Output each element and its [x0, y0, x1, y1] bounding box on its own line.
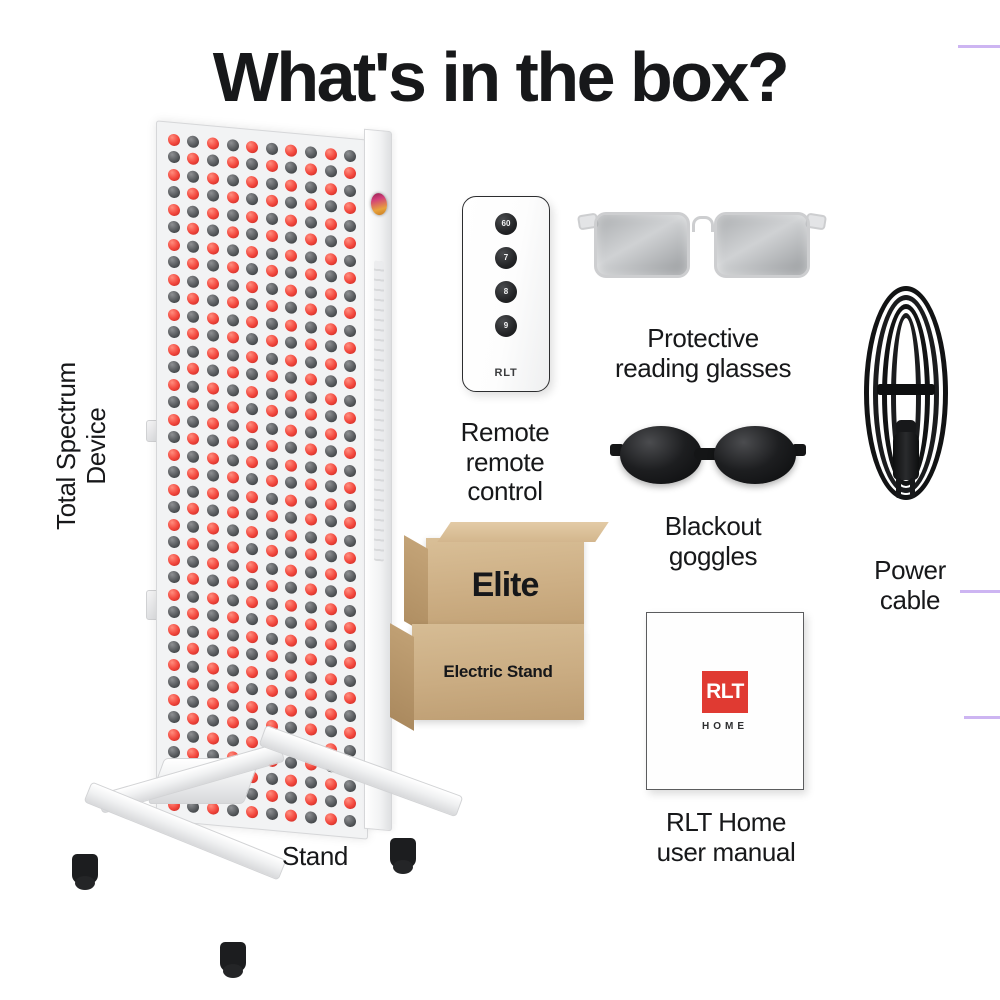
led-panel [156, 120, 368, 839]
led-dot [184, 639, 204, 658]
led-dot [184, 674, 204, 693]
led-dot [184, 622, 204, 641]
led-dot [262, 612, 282, 631]
led-dot [203, 624, 223, 643]
led-dot [301, 563, 321, 582]
led-dot [184, 272, 204, 291]
led-dot [282, 491, 302, 510]
led-dot [340, 689, 360, 708]
led-dot [262, 787, 282, 806]
led-dot [321, 337, 341, 356]
led-dot [164, 375, 184, 394]
led-dot [242, 470, 262, 489]
led-dot [321, 599, 341, 618]
led-dot [282, 176, 302, 195]
led-dot [164, 253, 184, 272]
led-dot [242, 347, 262, 366]
led-dot [242, 540, 262, 559]
led-dot [203, 414, 223, 433]
led-dot [262, 577, 282, 596]
led-dot [340, 531, 360, 550]
led-dot [223, 240, 243, 259]
led-dot [203, 431, 223, 450]
led-dot [301, 160, 321, 179]
led-dot [203, 361, 223, 380]
led-dot [203, 571, 223, 590]
led-dot [282, 228, 302, 247]
led-dot [242, 382, 262, 401]
led-dot [282, 473, 302, 492]
led-dot [184, 254, 204, 273]
led-dot [223, 503, 243, 522]
led-dot [242, 610, 262, 629]
led-dot [164, 323, 184, 342]
led-dot [184, 709, 204, 728]
edge-artifact-line [960, 590, 1000, 593]
led-dot [282, 421, 302, 440]
led-dot [203, 641, 223, 660]
led-dot [203, 256, 223, 275]
led-dot [321, 477, 341, 496]
led-dot [242, 662, 262, 681]
remote-button-power[interactable]: 60 [495, 213, 517, 235]
led-dot [340, 479, 360, 498]
led-dot [164, 533, 184, 552]
led-dot [321, 459, 341, 478]
led-dot [184, 237, 204, 256]
led-dot [321, 529, 341, 548]
led-dot [223, 275, 243, 294]
led-dot [184, 324, 204, 343]
led-dot [301, 598, 321, 617]
led-dot [301, 178, 321, 197]
led-dot [340, 514, 360, 533]
led-dot [340, 269, 360, 288]
led-dot [242, 295, 262, 314]
led-dot [223, 415, 243, 434]
led-dot [242, 225, 262, 244]
led-dot [301, 790, 321, 809]
goggles-caption: Blackout goggles [608, 512, 818, 571]
led-dot [164, 428, 184, 447]
led-dot [203, 204, 223, 223]
led-dot [164, 393, 184, 412]
led-dot [262, 419, 282, 438]
led-dot [242, 277, 262, 296]
led-dot [282, 193, 302, 212]
led-dot [282, 298, 302, 317]
led-dot [242, 715, 262, 734]
led-dot [203, 134, 223, 153]
led-dot [184, 132, 204, 151]
led-dot [301, 230, 321, 249]
led-dot [262, 384, 282, 403]
led-dot [164, 200, 184, 219]
led-dot [242, 522, 262, 541]
glasses-bridge [692, 216, 714, 232]
led-dot [203, 589, 223, 608]
remote-caption: Remote remote control [415, 418, 595, 507]
led-dot [203, 554, 223, 573]
led-dot [164, 603, 184, 622]
led-dot [184, 307, 204, 326]
led-dot [262, 682, 282, 701]
led-dot [321, 704, 341, 723]
remote-button-light[interactable]: 9 [495, 315, 517, 337]
led-dot [282, 526, 302, 545]
box-side-panel [404, 535, 428, 635]
led-dot [262, 262, 282, 281]
led-dot [321, 652, 341, 671]
led-dot [184, 202, 204, 221]
led-dot [184, 359, 204, 378]
remote-button-mode[interactable]: 7 [495, 247, 517, 269]
led-dot [223, 468, 243, 487]
caster-wheel [220, 942, 246, 972]
led-dot [262, 157, 282, 176]
led-dot [223, 345, 243, 364]
led-dot [262, 244, 282, 263]
led-dot [301, 615, 321, 634]
led-dot [164, 165, 184, 184]
led-dot [203, 519, 223, 538]
led-dot [223, 538, 243, 557]
led-dot [184, 552, 204, 571]
led-dot [282, 333, 302, 352]
led-dot [242, 400, 262, 419]
led-dot [340, 636, 360, 655]
led-dot [262, 332, 282, 351]
packaging-boxes: Elite Electric Stand [398, 524, 598, 736]
led-dot [301, 318, 321, 337]
led-dot [203, 606, 223, 625]
led-dot [184, 429, 204, 448]
caster-wheel [72, 854, 98, 884]
led-dot [340, 724, 360, 743]
led-dot [242, 330, 262, 349]
led-dot [340, 601, 360, 620]
led-dot [340, 706, 360, 725]
led-dot [282, 263, 302, 282]
led-dot [301, 195, 321, 214]
led-dot [282, 543, 302, 562]
led-dot [184, 447, 204, 466]
led-dot [282, 771, 302, 790]
led-dot [301, 423, 321, 442]
led-dot [340, 794, 360, 813]
led-dot [282, 403, 302, 422]
led-dot [242, 802, 262, 821]
led-dot [203, 326, 223, 345]
led-dot [242, 137, 262, 156]
led-dot [164, 620, 184, 639]
led-dot [301, 213, 321, 232]
led-dot [184, 342, 204, 361]
led-dot [242, 697, 262, 716]
led-dot [282, 683, 302, 702]
led-panel-side-bezel [364, 129, 392, 832]
led-dot [282, 806, 302, 825]
led-dot [164, 725, 184, 744]
led-dot [321, 634, 341, 653]
goggles-lens-left [620, 426, 702, 484]
led-dot [340, 811, 360, 830]
led-dot [321, 389, 341, 408]
led-dot [164, 463, 184, 482]
led-dot [164, 340, 184, 359]
led-dot [321, 372, 341, 391]
led-dot [223, 170, 243, 189]
led-dot [340, 164, 360, 183]
led-dot [184, 657, 204, 676]
led-dot [301, 248, 321, 267]
led-dot [340, 461, 360, 480]
led-dot [164, 130, 184, 149]
led-dot [340, 391, 360, 410]
device-caption: Total Spectrum Device [52, 362, 111, 530]
led-dot [184, 219, 204, 238]
remote-control: 60 7 8 9 RLT [462, 196, 550, 392]
led-dot [262, 349, 282, 368]
cable-caption: Power cable [840, 556, 980, 615]
led-dot [223, 188, 243, 207]
led-dot [223, 433, 243, 452]
led-dot [184, 289, 204, 308]
led-dot [301, 353, 321, 372]
box-elite-label: Elite [426, 566, 584, 605]
led-dot [301, 668, 321, 687]
box-electric-stand-label: Electric Stand [412, 662, 584, 682]
led-dot [223, 625, 243, 644]
led-dot [203, 239, 223, 258]
led-dot [262, 647, 282, 666]
led-dot [321, 179, 341, 198]
manual-caption: RLT Home user manual [620, 808, 832, 867]
power-cable [852, 282, 960, 522]
remote-brand-label: RLT [463, 367, 549, 379]
led-dot [282, 368, 302, 387]
led-dot [340, 216, 360, 235]
led-dot [321, 214, 341, 233]
led-dot [321, 232, 341, 251]
led-dot [184, 184, 204, 203]
led-dot [301, 650, 321, 669]
led-dot [301, 633, 321, 652]
led-dot [301, 388, 321, 407]
led-dot [340, 321, 360, 340]
led-dot [321, 809, 341, 828]
led-dot [223, 555, 243, 574]
led-dot [321, 547, 341, 566]
led-dot [340, 619, 360, 638]
led-dot [262, 507, 282, 526]
led-dot [301, 265, 321, 284]
edge-artifact-line [958, 45, 1000, 48]
led-dot [184, 499, 204, 518]
led-dot [242, 190, 262, 209]
led-dot [262, 402, 282, 421]
led-dot [164, 410, 184, 429]
led-dot [321, 564, 341, 583]
led-dot [321, 687, 341, 706]
led-dot [340, 444, 360, 463]
led-dot [282, 386, 302, 405]
led-dot [242, 242, 262, 261]
led-dot [340, 304, 360, 323]
led-dot [321, 442, 341, 461]
led-dot [282, 351, 302, 370]
led-dot [184, 149, 204, 168]
led-dot [321, 407, 341, 426]
led-dot [184, 377, 204, 396]
led-dot [203, 309, 223, 328]
led-dot [321, 284, 341, 303]
led-dot [223, 398, 243, 417]
page-title: What's in the box? [0, 42, 1000, 112]
led-dot [203, 729, 223, 748]
led-dot [262, 524, 282, 543]
led-dot [164, 480, 184, 499]
led-dot [242, 155, 262, 174]
goggles-lens-right [714, 426, 796, 484]
plug-body [893, 432, 919, 480]
led-dot [164, 550, 184, 569]
led-dot [282, 701, 302, 720]
user-manual-booklet: RLT HOME [646, 612, 804, 790]
led-dot [262, 594, 282, 613]
led-dot [223, 135, 243, 154]
led-dot [223, 713, 243, 732]
led-dot [203, 274, 223, 293]
led-dot [282, 158, 302, 177]
led-dot [321, 249, 341, 268]
glasses-lens-left [594, 212, 690, 278]
led-dot [184, 604, 204, 623]
led-dot [223, 590, 243, 609]
led-dot [184, 692, 204, 711]
led-dot [164, 305, 184, 324]
led-dot [340, 356, 360, 375]
led-dot [184, 482, 204, 501]
led-dot [223, 153, 243, 172]
plug-prong [910, 478, 915, 498]
led-dot [321, 582, 341, 601]
led-dot [164, 568, 184, 587]
led-dot [164, 235, 184, 254]
led-dot [242, 680, 262, 699]
led-dot [164, 288, 184, 307]
led-dot [321, 197, 341, 216]
led-dot [321, 319, 341, 338]
led-dot [164, 183, 184, 202]
led-dot [340, 409, 360, 428]
led-dot [282, 596, 302, 615]
led-dot [203, 536, 223, 555]
led-dot [321, 722, 341, 741]
led-dot [184, 464, 204, 483]
led-dot [340, 286, 360, 305]
led-dot [242, 487, 262, 506]
box-elite: Elite [426, 538, 584, 624]
led-dot [223, 450, 243, 469]
led-dot [262, 542, 282, 561]
led-dot [242, 417, 262, 436]
led-dot [223, 485, 243, 504]
led-dot [184, 569, 204, 588]
led-dot [321, 512, 341, 531]
led-dot [184, 167, 204, 186]
led-dot [321, 302, 341, 321]
led-dot [164, 498, 184, 517]
led-dot [262, 437, 282, 456]
led-dot [184, 412, 204, 431]
led-dot [301, 720, 321, 739]
led-dot [301, 510, 321, 529]
led-dot [203, 449, 223, 468]
led-dot [340, 549, 360, 568]
box-electric-stand: Electric Stand [412, 624, 584, 720]
led-dot [262, 367, 282, 386]
led-dot [223, 695, 243, 714]
led-dot [262, 454, 282, 473]
infographic-canvas: What's in the box? Total Spectrum Device… [0, 0, 1000, 1000]
led-dot [262, 139, 282, 158]
led-dot [164, 585, 184, 604]
led-dot [301, 545, 321, 564]
led-dot [223, 678, 243, 697]
led-dot [301, 300, 321, 319]
led-dot [321, 424, 341, 443]
led-dot [282, 246, 302, 265]
stand-caption: Stand [215, 842, 415, 872]
led-dot [321, 267, 341, 286]
led-dot [164, 673, 184, 692]
led-dot [262, 227, 282, 246]
led-dot [262, 804, 282, 823]
led-dot [203, 151, 223, 170]
led-dot [321, 792, 341, 811]
led-dot [242, 452, 262, 471]
led-dot [262, 192, 282, 211]
led-dot [242, 207, 262, 226]
led-dot [301, 493, 321, 512]
led-dot [321, 144, 341, 163]
led-dot [321, 162, 341, 181]
led-dot [242, 365, 262, 384]
led-dot [203, 501, 223, 520]
led-dot [242, 312, 262, 331]
led-dot [242, 592, 262, 611]
led-dot [321, 494, 341, 513]
led-dot [301, 405, 321, 424]
remote-button-timer[interactable]: 8 [495, 281, 517, 303]
led-dot [282, 561, 302, 580]
led-dot [301, 528, 321, 547]
led-dot [242, 505, 262, 524]
box-side-panel [390, 623, 414, 731]
led-dot [340, 199, 360, 218]
led-dot [184, 727, 204, 746]
led-dot [301, 685, 321, 704]
led-dot [164, 445, 184, 464]
led-dot [164, 148, 184, 167]
led-dot [301, 773, 321, 792]
led-dot [184, 534, 204, 553]
led-dot [203, 396, 223, 415]
led-dot [223, 310, 243, 329]
led-dot [184, 394, 204, 413]
led-panel-face [156, 120, 368, 839]
